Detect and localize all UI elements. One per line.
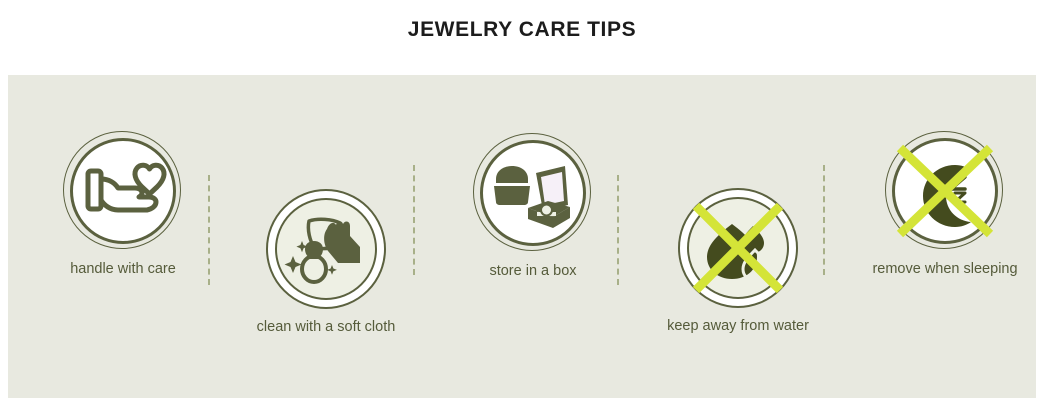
divider-2 bbox=[413, 165, 415, 275]
hand-holding-heart-icon bbox=[63, 131, 183, 251]
hand-polishing-ring-with-cloth-icon bbox=[266, 189, 386, 309]
tip-item-handle-with-care[interactable]: handle with care bbox=[53, 131, 193, 277]
tip-icon-circle bbox=[885, 131, 1005, 251]
tip-icon-circle bbox=[266, 189, 386, 309]
tip-icon-circle bbox=[473, 133, 593, 253]
tips-panel: handle with care clean with a s bbox=[8, 75, 1036, 398]
divider-1 bbox=[208, 175, 210, 285]
tip-item-keep-away-from-water[interactable]: keep away from water bbox=[663, 188, 813, 334]
divider-3 bbox=[617, 175, 619, 285]
jewelry-boxes-icon bbox=[473, 133, 593, 253]
page-title: JEWELRY CARE TIPS bbox=[0, 18, 1044, 42]
tip-icon-circle bbox=[678, 188, 798, 308]
tip-item-clean-with-a-soft-cloth[interactable]: clean with a soft cloth bbox=[256, 189, 396, 335]
tip-label: handle with care bbox=[53, 261, 193, 277]
no-sleeping-moon-icon bbox=[885, 131, 1005, 251]
tip-label: keep away from water bbox=[663, 318, 813, 334]
tip-item-remove-when-sleeping[interactable]: remove when sleeping bbox=[865, 131, 1025, 277]
divider-4 bbox=[823, 165, 825, 275]
tip-label: store in a box bbox=[463, 263, 603, 279]
no-water-droplet-icon bbox=[678, 188, 798, 308]
tip-label: remove when sleeping bbox=[865, 261, 1025, 277]
tip-item-store-in-a-box[interactable]: store in a box bbox=[463, 133, 603, 279]
tip-label: clean with a soft cloth bbox=[256, 319, 396, 335]
tip-icon-circle bbox=[63, 131, 183, 251]
